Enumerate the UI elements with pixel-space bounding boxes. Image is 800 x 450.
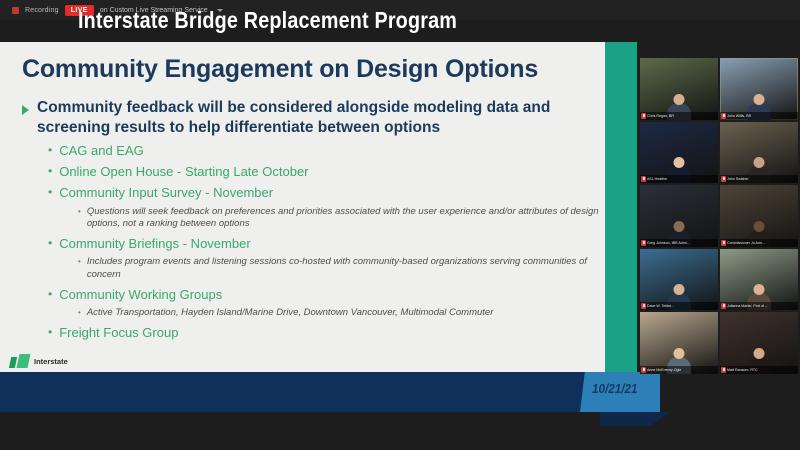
participant-tile[interactable]: Chris Regan, BR xyxy=(640,58,718,120)
slide-main-bullet-text: Community feedback will be considered al… xyxy=(37,98,582,138)
participant-name-bar: Julianna Marler, Port of ... xyxy=(720,302,798,310)
slide-bullet-list: •CAG and EAG•Online Open House - Startin… xyxy=(22,143,612,342)
mic-muted-icon xyxy=(641,240,646,246)
participant-grid: Chris Regan, BRJohn Willis, BRASL Heathe… xyxy=(640,58,798,378)
participant-name: ASL Heather xyxy=(647,177,667,181)
slide-bullet-text: Community Input Survey - November xyxy=(59,185,273,201)
slide-bullet-text: CAG and EAG xyxy=(59,143,144,159)
program-title: Interstate Bridge Replacement Program xyxy=(78,7,457,34)
bullet-dot-icon: • xyxy=(48,185,52,201)
slide-bullet-item: •Community Input Survey - November xyxy=(48,185,612,201)
participant-name: Commissioner Jo Ann... xyxy=(727,241,765,245)
mic-muted-icon xyxy=(721,367,726,373)
bullet-dot-icon: • xyxy=(48,143,52,159)
participant-name: Greg Johnson, IBR Admi... xyxy=(647,241,690,245)
mic-muted-icon xyxy=(721,176,726,182)
participant-name-bar: Commissioner Jo Ann... xyxy=(720,239,798,247)
participant-name: Chris Regan, BR xyxy=(647,114,674,118)
participant-name-bar: John Willis, BR xyxy=(720,112,798,120)
participant-tile[interactable]: Julianna Marler, Port of ... xyxy=(720,249,798,311)
participant-name: Anne McEnerny-Ogle xyxy=(647,368,681,372)
slide-bullet-item: •Includes program events and listening s… xyxy=(78,256,612,282)
slide-bullet-text: Freight Focus Group xyxy=(59,325,178,341)
slide-bullet-item: •Online Open House - Starting Late Octob… xyxy=(48,164,612,180)
participant-tile[interactable]: ASL Heather xyxy=(640,122,718,184)
mic-muted-icon xyxy=(641,367,646,373)
mic-muted-icon xyxy=(641,113,646,119)
slide-title: Community Engagement on Design Options xyxy=(22,56,612,84)
participant-name: Julianna Marler, Port of ... xyxy=(727,304,768,308)
slide-bullet-item: •Freight Focus Group xyxy=(48,325,612,341)
recording-indicator-icon xyxy=(12,7,19,14)
slide-bullet-text: Includes program events and listening se… xyxy=(87,256,599,282)
participant-name: John Willis, BR xyxy=(727,114,751,118)
slide-bullet-item: •Active Transportation, Hayden Island/Ma… xyxy=(78,307,612,320)
participant-name-bar: Dave W. Tebbe... xyxy=(640,302,718,310)
slide-bullet-item: •Questions will seek feedback on prefere… xyxy=(78,206,612,232)
bullet-dot-icon: • xyxy=(78,256,81,282)
slide-bullet-text: Community Briefings - November xyxy=(59,236,250,252)
participant-tile[interactable]: Greg Johnson, IBR Admi... xyxy=(640,185,718,247)
bullet-dot-icon: • xyxy=(48,325,52,341)
participant-tile[interactable]: Commissioner Jo Ann... xyxy=(720,185,798,247)
shared-slide: Community Engagement on Design Options C… xyxy=(0,42,637,372)
participant-name: Matt Ransom, RTC xyxy=(727,368,758,372)
mic-muted-icon xyxy=(641,176,646,182)
participant-name-bar: John Swisher xyxy=(720,175,798,183)
slide-main-bullet: Community feedback will be considered al… xyxy=(22,98,612,138)
participant-name-bar: Chris Regan, BR xyxy=(640,112,718,120)
mic-muted-icon xyxy=(721,303,726,309)
slide-bullet-text: Active Transportation, Hayden Island/Mar… xyxy=(87,307,599,320)
slide-bullet-text: Questions will seek feedback on preferen… xyxy=(87,206,599,232)
logo-label: Interstate xyxy=(34,357,68,366)
participant-tile[interactable]: John Willis, BR xyxy=(720,58,798,120)
participant-tile[interactable]: Dave W. Tebbe... xyxy=(640,249,718,311)
ibr-logo: Interstate xyxy=(10,354,68,368)
participant-name: John Swisher xyxy=(727,177,749,181)
slide-footer-banner xyxy=(0,372,660,412)
triangle-bullet-icon xyxy=(22,105,29,115)
mic-muted-icon xyxy=(721,240,726,246)
bullet-dot-icon: • xyxy=(78,307,81,320)
slide-bullet-item: •Community Working Groups xyxy=(48,287,612,303)
bullet-dot-icon: • xyxy=(48,236,52,252)
participant-tile[interactable]: Matt Ransom, RTC xyxy=(720,312,798,374)
participant-tile[interactable]: Anne McEnerny-Ogle xyxy=(640,312,718,374)
participant-name-bar: ASL Heather xyxy=(640,175,718,183)
bullet-dot-icon: • xyxy=(48,287,52,303)
mic-muted-icon xyxy=(721,113,726,119)
footer-shadow-shape xyxy=(600,412,670,426)
presentation-date: 10/21/21 xyxy=(592,381,638,396)
slide-bullet-text: Community Working Groups xyxy=(59,287,222,303)
recording-label: Recording xyxy=(25,7,59,14)
participant-name: Dave W. Tebbe... xyxy=(647,304,674,308)
zoom-meeting-window: Recording LIVE on Custom Live Streaming … xyxy=(0,0,800,450)
bullet-dot-icon: • xyxy=(78,206,81,232)
participant-name-bar: Matt Ransom, RTC xyxy=(720,366,798,374)
bullet-dot-icon: • xyxy=(48,164,52,180)
mic-muted-icon xyxy=(641,303,646,309)
slide-bullet-item: •CAG and EAG xyxy=(48,143,612,159)
checkmark-logo-icon xyxy=(10,354,30,368)
participant-tile[interactable]: John Swisher xyxy=(720,122,798,184)
slide-bullet-text: Online Open House - Starting Late Octobe… xyxy=(59,164,308,180)
participant-name-bar: Anne McEnerny-Ogle xyxy=(640,366,718,374)
participant-name-bar: Greg Johnson, IBR Admi... xyxy=(640,239,718,247)
slide-bullet-item: •Community Briefings - November xyxy=(48,236,612,252)
